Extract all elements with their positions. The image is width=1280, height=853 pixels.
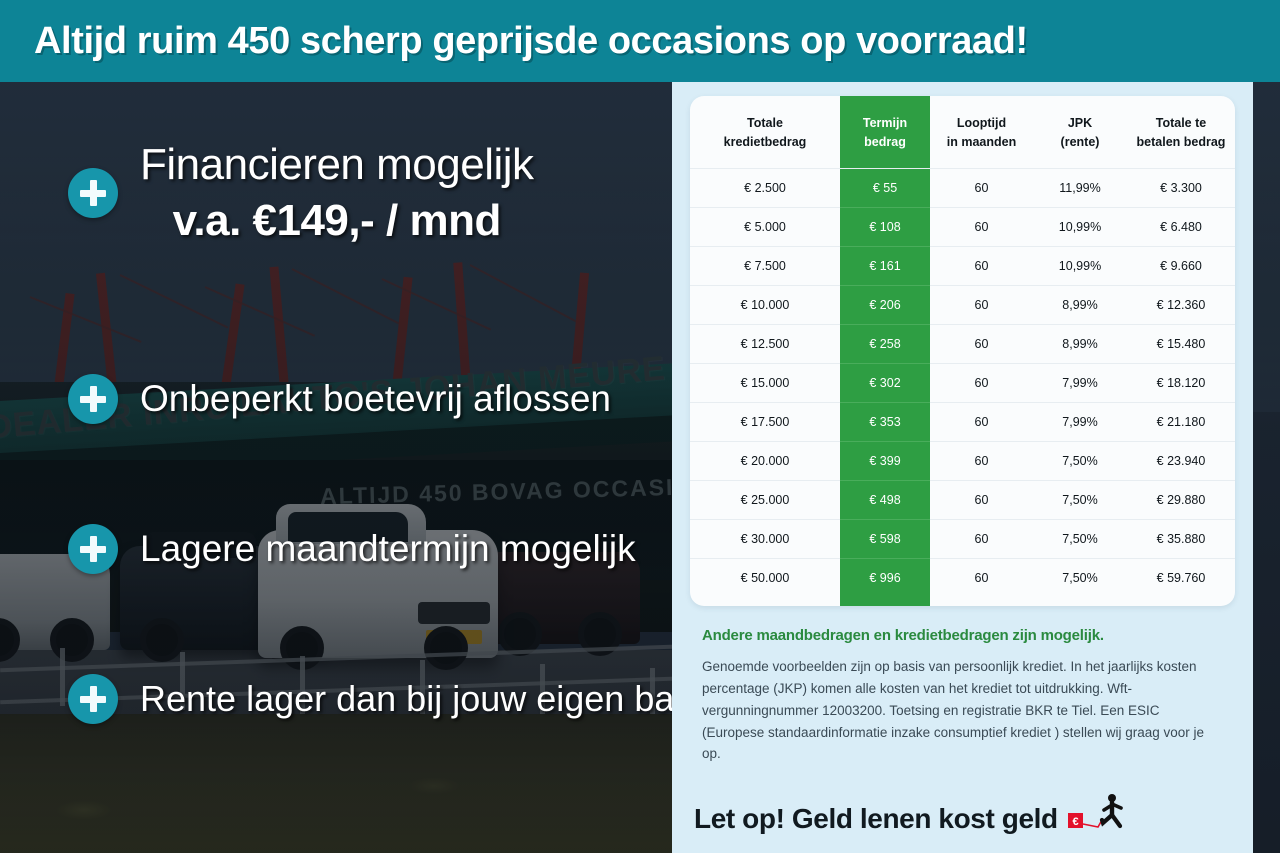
table-row: € 12.500€ 258608,99%€ 15.480	[690, 324, 1235, 363]
benefit-list: Financieren mogelijk v.a. €149,- / mnd O…	[0, 82, 690, 853]
cell-looptijd: 60	[930, 207, 1033, 246]
plus-circle-icon	[68, 374, 118, 424]
cell-jkp: 8,99%	[1033, 324, 1127, 363]
cell-termijnbedrag: € 258	[840, 324, 930, 363]
cell-termijnbedrag: € 161	[840, 246, 930, 285]
table-row: € 50.000€ 996607,50%€ 59.760	[690, 558, 1235, 597]
cell-looptijd: 60	[930, 402, 1033, 441]
cell-looptijd: 60	[930, 558, 1033, 597]
cell-kredietbedrag: € 25.000	[690, 480, 840, 519]
cell-kredietbedrag: € 7.500	[690, 246, 840, 285]
credit-info-panel: Totalekredietbedrag Termijnbedrag Loopti…	[672, 82, 1253, 853]
column-header-looptijd: Looptijdin maanden	[930, 96, 1033, 168]
cell-jkp: 7,50%	[1033, 519, 1127, 558]
table-row: € 20.000€ 399607,50%€ 23.940	[690, 441, 1235, 480]
rate-table: Totalekredietbedrag Termijnbedrag Loopti…	[690, 96, 1235, 597]
cell-jkp: 7,50%	[1033, 558, 1127, 597]
cell-kredietbedrag: € 10.000	[690, 285, 840, 324]
cell-jkp: 7,50%	[1033, 480, 1127, 519]
cell-looptijd: 60	[930, 363, 1033, 402]
cell-jkp: 7,50%	[1033, 441, 1127, 480]
table-header-row: Totalekredietbedrag Termijnbedrag Loopti…	[690, 96, 1235, 168]
cell-totaalbedrag: € 29.880	[1127, 480, 1235, 519]
column-header-jkp: JPK(rente)	[1033, 96, 1127, 168]
cell-termijnbedrag: € 302	[840, 363, 930, 402]
plus-circle-icon	[68, 524, 118, 574]
warning-text: Let op! Geld lenen kost geld	[694, 803, 1058, 835]
plus-circle-icon	[68, 674, 118, 724]
cell-looptijd: 60	[930, 168, 1033, 207]
cell-jkp: 7,99%	[1033, 402, 1127, 441]
cell-totaalbedrag: € 15.480	[1127, 324, 1235, 363]
advertisement-banner: Altijd ruim 450 scherp geprijsde occasio…	[0, 0, 1280, 853]
cell-kredietbedrag: € 30.000	[690, 519, 840, 558]
table-row: € 30.000€ 598607,50%€ 35.880	[690, 519, 1235, 558]
banner-headline: Altijd ruim 450 scherp geprijsde occasio…	[34, 20, 1028, 63]
cell-jkp: 8,99%	[1033, 285, 1127, 324]
table-row: € 10.000€ 206608,99%€ 12.360	[690, 285, 1235, 324]
column-header-totaal: Totale tebetalen bedrag	[1127, 96, 1235, 168]
table-row: € 25.000€ 498607,50%€ 29.880	[690, 480, 1235, 519]
column-header-kredietbedrag: Totalekredietbedrag	[690, 96, 840, 168]
top-banner: Altijd ruim 450 scherp geprijsde occasio…	[0, 0, 1280, 82]
cell-looptijd: 60	[930, 480, 1033, 519]
cell-kredietbedrag: € 17.500	[690, 402, 840, 441]
cell-totaalbedrag: € 35.880	[1127, 519, 1235, 558]
disclaimer-body: Genoemde voorbeelden zijn op basis van p…	[702, 656, 1222, 765]
cell-kredietbedrag: € 2.500	[690, 168, 840, 207]
table-row: € 17.500€ 353607,99%€ 21.180	[690, 402, 1235, 441]
cell-jkp: 10,99%	[1033, 207, 1127, 246]
cell-kredietbedrag: € 20.000	[690, 441, 840, 480]
cell-looptijd: 60	[930, 519, 1033, 558]
benefit-maandtermijn-label: Lagere maandtermijn mogelijk	[140, 528, 636, 570]
column-header-termijnbedrag: Termijnbedrag	[840, 96, 930, 168]
cell-termijnbedrag: € 55	[840, 168, 930, 207]
cell-jkp: 7,99%	[1033, 363, 1127, 402]
geld-lenen-kost-geld-icon: €	[1068, 793, 1128, 835]
cell-looptijd: 60	[930, 324, 1033, 363]
cell-jkp: 11,99%	[1033, 168, 1127, 207]
cell-termijnbedrag: € 498	[840, 480, 930, 519]
cell-totaalbedrag: € 9.660	[1127, 246, 1235, 285]
cell-looptijd: 60	[930, 441, 1033, 480]
cell-totaalbedrag: € 18.120	[1127, 363, 1235, 402]
cell-totaalbedrag: € 12.360	[1127, 285, 1235, 324]
cell-termijnbedrag: € 996	[840, 558, 930, 597]
benefit-item-rente: Rente lager dan bij jouw eigen bank	[68, 674, 712, 724]
cell-looptijd: 60	[930, 285, 1033, 324]
cell-totaalbedrag: € 59.760	[1127, 558, 1235, 597]
table-row: € 5.000€ 1086010,99%€ 6.480	[690, 207, 1235, 246]
cell-termijnbedrag: € 206	[840, 285, 930, 324]
cell-totaalbedrag: € 21.180	[1127, 402, 1235, 441]
cell-kredietbedrag: € 50.000	[690, 558, 840, 597]
svg-text:€: €	[1072, 816, 1078, 828]
cell-termijnbedrag: € 598	[840, 519, 930, 558]
benefit-financieren-line1: Financieren mogelijk	[140, 140, 534, 190]
benefit-rente-label: Rente lager dan bij jouw eigen bank	[140, 678, 712, 720]
cell-termijnbedrag: € 353	[840, 402, 930, 441]
disclaimer-block: Andere maandbedragen en kredietbedragen …	[702, 627, 1222, 765]
benefit-item-maandtermijn: Lagere maandtermijn mogelijk	[68, 524, 636, 574]
disclaimer-heading: Andere maandbedragen en kredietbedragen …	[702, 627, 1222, 644]
cell-totaalbedrag: € 6.480	[1127, 207, 1235, 246]
cell-termijnbedrag: € 108	[840, 207, 930, 246]
cell-kredietbedrag: € 15.000	[690, 363, 840, 402]
cell-totaalbedrag: € 3.300	[1127, 168, 1235, 207]
table-row: € 15.000€ 302607,99%€ 18.120	[690, 363, 1235, 402]
cell-jkp: 10,99%	[1033, 246, 1127, 285]
benefit-item-aflossen: Onbeperkt boetevrij aflossen	[68, 374, 611, 424]
cell-termijnbedrag: € 399	[840, 441, 930, 480]
cell-kredietbedrag: € 5.000	[690, 207, 840, 246]
benefit-aflossen-label: Onbeperkt boetevrij aflossen	[140, 378, 611, 420]
rate-table-card: Totalekredietbedrag Termijnbedrag Loopti…	[690, 96, 1235, 606]
plus-circle-icon	[68, 168, 118, 218]
cell-looptijd: 60	[930, 246, 1033, 285]
benefit-item-financieren: Financieren mogelijk v.a. €149,- / mnd	[68, 140, 534, 246]
benefit-financieren-line2: v.a. €149,- / mnd	[140, 196, 534, 246]
cell-totaalbedrag: € 23.940	[1127, 441, 1235, 480]
cell-kredietbedrag: € 12.500	[690, 324, 840, 363]
table-row: € 2.500€ 556011,99%€ 3.300	[690, 168, 1235, 207]
table-row: € 7.500€ 1616010,99%€ 9.660	[690, 246, 1235, 285]
warning-block: Let op! Geld lenen kost geld €	[694, 793, 1234, 835]
